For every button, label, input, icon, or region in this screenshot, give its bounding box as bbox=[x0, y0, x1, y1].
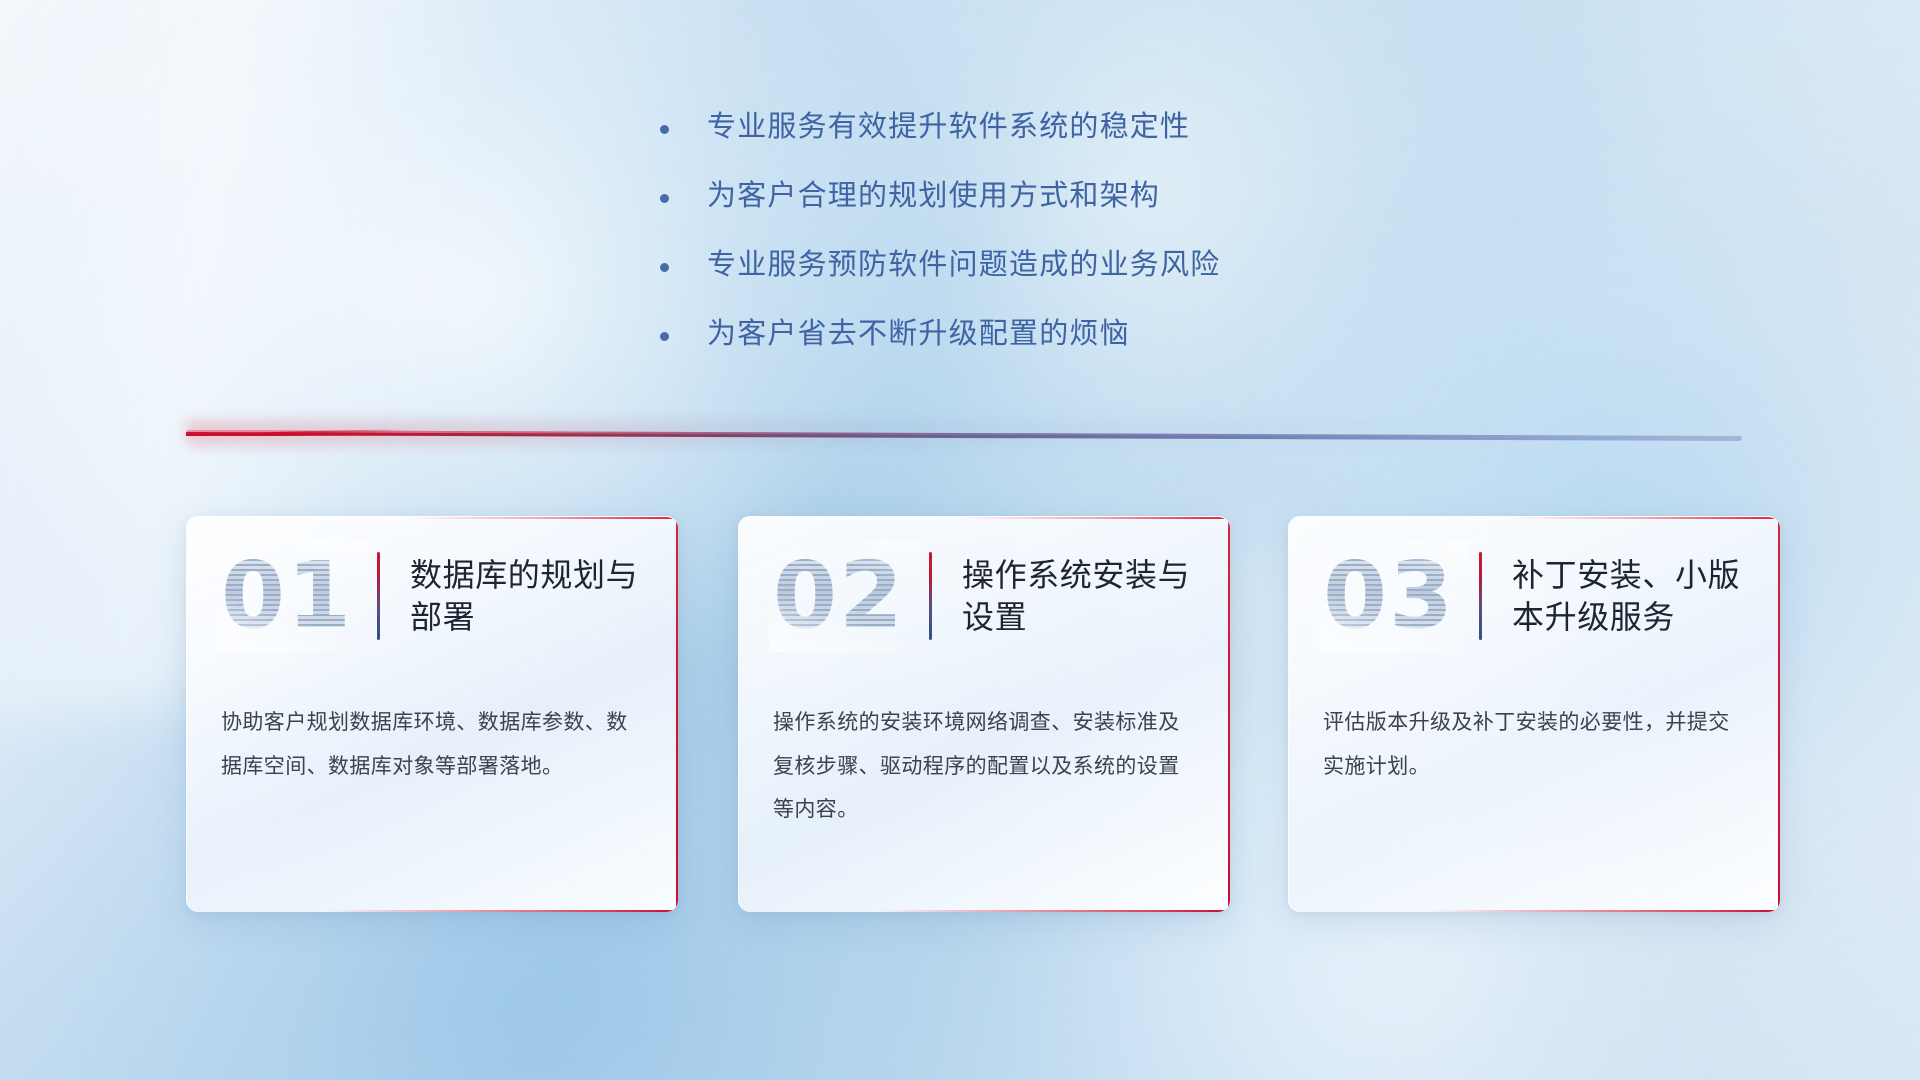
card-title-rule bbox=[929, 552, 932, 640]
card-title-rule bbox=[1479, 552, 1482, 640]
card-description: 评估版本升级及补丁安装的必要性，并提交实施计划。 bbox=[1289, 675, 1780, 788]
card-number-text: 03 bbox=[1323, 544, 1465, 648]
service-card-02[interactable]: 02 操作系统安装与设置 操作系统的安装环境网络调查、安装标准及复核步骤、驱动程… bbox=[738, 516, 1230, 912]
service-card-03[interactable]: 03 补丁安装、小版本升级服务 评估版本升级及补丁安装的必要性，并提交实施计划。 bbox=[1288, 516, 1780, 912]
card-number-text: 01 bbox=[221, 544, 363, 648]
bullet-dot-icon bbox=[660, 332, 669, 341]
bullet-text: 为客户省去不断升级配置的烦恼 bbox=[707, 315, 1130, 354]
card-title: 数据库的规划与部署 bbox=[410, 554, 650, 638]
list-item: 为客户省去不断升级配置的烦恼 bbox=[660, 315, 1420, 354]
card-header: 01 数据库的规划与部署 bbox=[187, 517, 678, 675]
bullet-dot-icon bbox=[660, 263, 669, 272]
list-item: 专业服务预防软件问题造成的业务风险 bbox=[660, 246, 1420, 285]
bullet-dot-icon bbox=[660, 194, 669, 203]
bullet-text: 专业服务预防软件问题造成的业务风险 bbox=[707, 246, 1220, 285]
card-number-watermark: 01 bbox=[221, 544, 363, 648]
bullet-text: 为客户合理的规划使用方式和架构 bbox=[707, 177, 1160, 216]
service-card-01[interactable]: 01 数据库的规划与部署 协助客户规划数据库环境、数据库参数、数据库空间、数据库… bbox=[186, 516, 678, 912]
card-number-watermark: 02 bbox=[773, 544, 915, 648]
list-item: 专业服务有效提升软件系统的稳定性 bbox=[660, 108, 1420, 147]
card-header: 02 操作系统安装与设置 bbox=[739, 517, 1230, 675]
benefits-bullet-list: 专业服务有效提升软件系统的稳定性 为客户合理的规划使用方式和架构 专业服务预防软… bbox=[660, 108, 1420, 385]
card-number-text: 02 bbox=[773, 544, 915, 648]
card-title: 补丁安装、小版本升级服务 bbox=[1512, 554, 1752, 638]
card-header: 03 补丁安装、小版本升级服务 bbox=[1289, 517, 1780, 675]
bullet-dot-icon bbox=[660, 125, 669, 134]
gradient-divider bbox=[186, 428, 1742, 444]
card-title: 操作系统安装与设置 bbox=[962, 554, 1202, 638]
card-title-rule bbox=[377, 552, 380, 640]
card-number-watermark: 03 bbox=[1323, 544, 1465, 648]
card-description: 操作系统的安装环境网络调查、安装标准及复核步骤、驱动程序的配置以及系统的设置等内… bbox=[739, 675, 1230, 832]
card-description: 协助客户规划数据库环境、数据库参数、数据库空间、数据库对象等部署落地。 bbox=[187, 675, 678, 788]
list-item: 为客户合理的规划使用方式和架构 bbox=[660, 177, 1420, 216]
service-card-group: 01 数据库的规划与部署 协助客户规划数据库环境、数据库参数、数据库空间、数据库… bbox=[0, 516, 1920, 936]
bullet-text: 专业服务有效提升软件系统的稳定性 bbox=[707, 108, 1190, 147]
